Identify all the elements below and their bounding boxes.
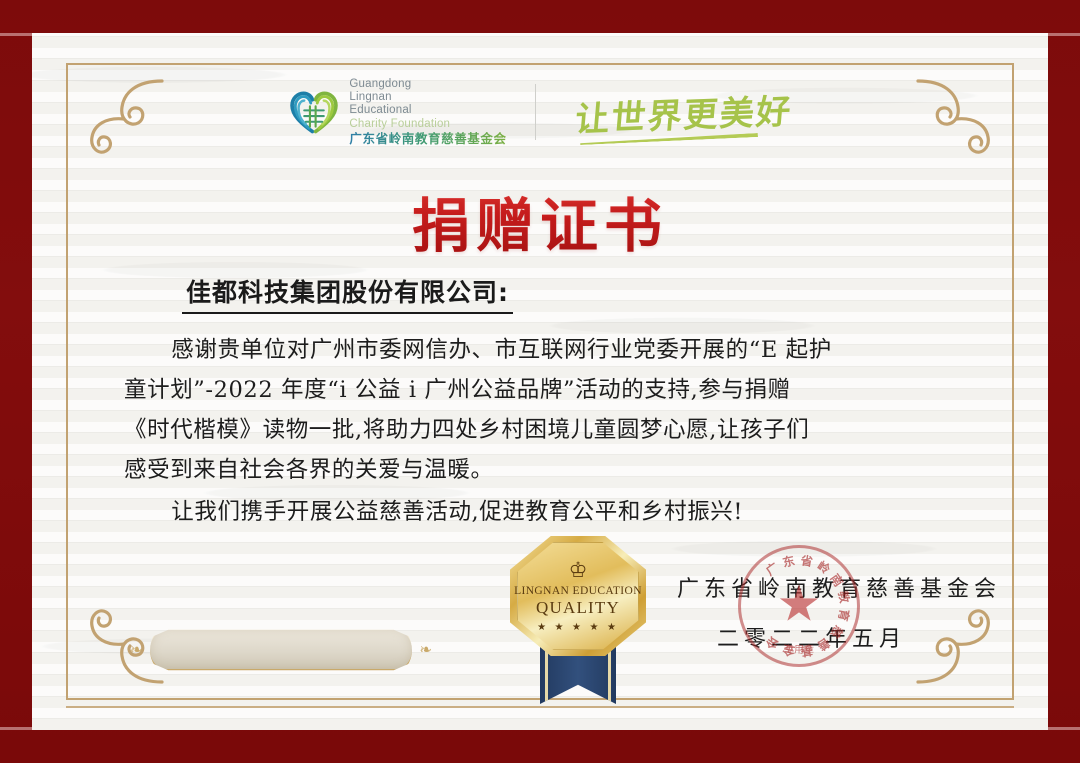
- signing-organization: 广东省岭南教育慈善基金会: [677, 571, 977, 603]
- crown-icon: ♔: [514, 560, 642, 581]
- recipient-name: 佳都科技集团股份有限公司:: [182, 273, 513, 314]
- signing-date: 二零二二年五月: [717, 621, 977, 653]
- body-paragraph-1: 感谢贵单位对广州市委网信办、市互联网行业党委开展的“E 起护 童计划”-2022…: [124, 330, 970, 490]
- brand-en-line-4: Charity Foundation: [349, 118, 506, 131]
- body-line: 感谢贵单位对广州市委网信办、市互联网行业党委开展的“E 起护: [124, 330, 970, 370]
- body-line: 童计划”-2022 年度“i 公益 i 广州公益品牌”活动的支持,参与捐赠: [124, 370, 970, 410]
- brand-en-line-1: Guangdong: [349, 78, 506, 91]
- medal-stars-icon: ★ ★ ★ ★ ★: [514, 622, 642, 633]
- slogan-block: 让世界更美好: [536, 88, 792, 137]
- page-title: 捐赠证书: [32, 179, 1048, 263]
- body-line: 让我们携手开展公益慈善活动,促进教育公平和乡村振兴!: [124, 492, 970, 532]
- bottom-gold-rule: [66, 706, 1014, 708]
- heart-logo-icon: [288, 87, 340, 137]
- medal-body: ♔ LINGNAN EDUCATION QUALITY ★ ★ ★ ★ ★: [510, 536, 646, 656]
- certificate-header: Guangdong Lingnan Educational Charity Fo…: [32, 73, 1048, 151]
- certificate-document: Guangdong Lingnan Educational Charity Fo…: [0, 0, 1080, 763]
- fleur-ornament-icon: ❧: [130, 641, 143, 660]
- brand-en-line-3: Educational: [349, 104, 506, 117]
- foundation-brand: Guangdong Lingnan Educational Charity Fo…: [288, 78, 534, 147]
- signature-block: 广东省岭南教育慈善基金会 二零二二年五月: [677, 571, 977, 653]
- quality-medal: ♔ LINGNAN EDUCATION QUALITY ★ ★ ★ ★ ★: [502, 536, 654, 704]
- plaque-body: [150, 628, 412, 672]
- body-line: 感受到来自社会各界的关爱与温暖。: [124, 450, 970, 490]
- brand-en-line-2: Lingnan: [349, 91, 506, 104]
- certificate-body: 佳都科技集团股份有限公司: 感谢贵单位对广州市委网信办、市互联网行业党委开展的“…: [124, 273, 970, 532]
- brand-cn-name: 广东省岭南教育慈善基金会: [349, 132, 506, 147]
- body-line: 《时代楷模》读物一批,将助力四处乡村困境儿童圆梦心愿,让孩子们: [124, 410, 970, 450]
- medal-line-2: QUALITY: [514, 598, 642, 618]
- decorative-plaque: ❧ ❧: [150, 628, 412, 672]
- slogan-text: 让世界更美好: [573, 83, 794, 140]
- medal-line-1: LINGNAN EDUCATION: [514, 585, 642, 597]
- fleur-ornament-icon: ❧: [419, 641, 432, 660]
- certificate-paper: Guangdong Lingnan Educational Charity Fo…: [32, 33, 1048, 730]
- body-paragraph-2: 让我们携手开展公益慈善活动,促进教育公平和乡村振兴!: [124, 492, 970, 532]
